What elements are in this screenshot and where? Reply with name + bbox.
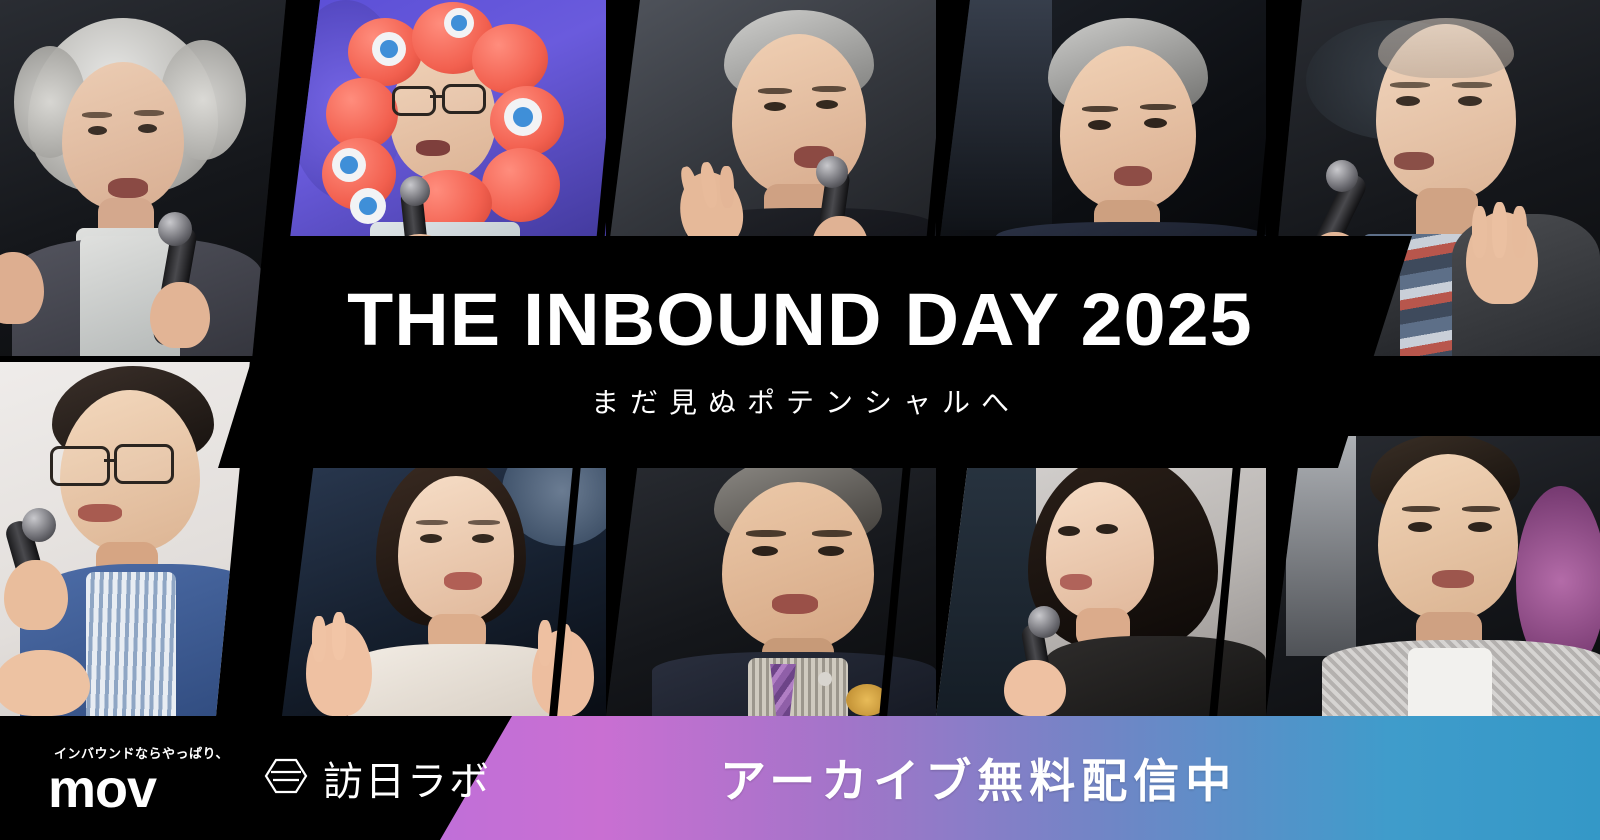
hexagon-icon	[263, 753, 309, 804]
speaker-photo	[0, 0, 286, 360]
mov-brand[interactable]: インバウンドならやっぱり、 mov	[48, 743, 229, 812]
speaker-photo	[936, 0, 1266, 270]
speaker-photo	[286, 0, 606, 270]
speaker-photo	[606, 0, 936, 270]
mov-logo: mov	[48, 766, 229, 812]
footer-cta-group[interactable]: アーカイブ無料配信中	[620, 716, 1600, 840]
hojitlab-label: 訪日ラボ	[323, 749, 491, 807]
event-key-visual: THE INBOUND DAY 2025 まだ見ぬポテンシャルへ インバウンドな…	[0, 0, 1600, 840]
footer-brand-group: インバウンドならやっぱり、 mov 訪日ラボ	[0, 716, 520, 840]
archive-cta-label: アーカイブ無料配信中	[720, 745, 1237, 811]
speaker-photo	[1266, 436, 1600, 716]
footer-bar: インバウンドならやっぱり、 mov 訪日ラボ アーカイブ無料配信中	[0, 716, 1600, 840]
hojitlab-brand[interactable]: 訪日ラボ	[263, 749, 491, 807]
